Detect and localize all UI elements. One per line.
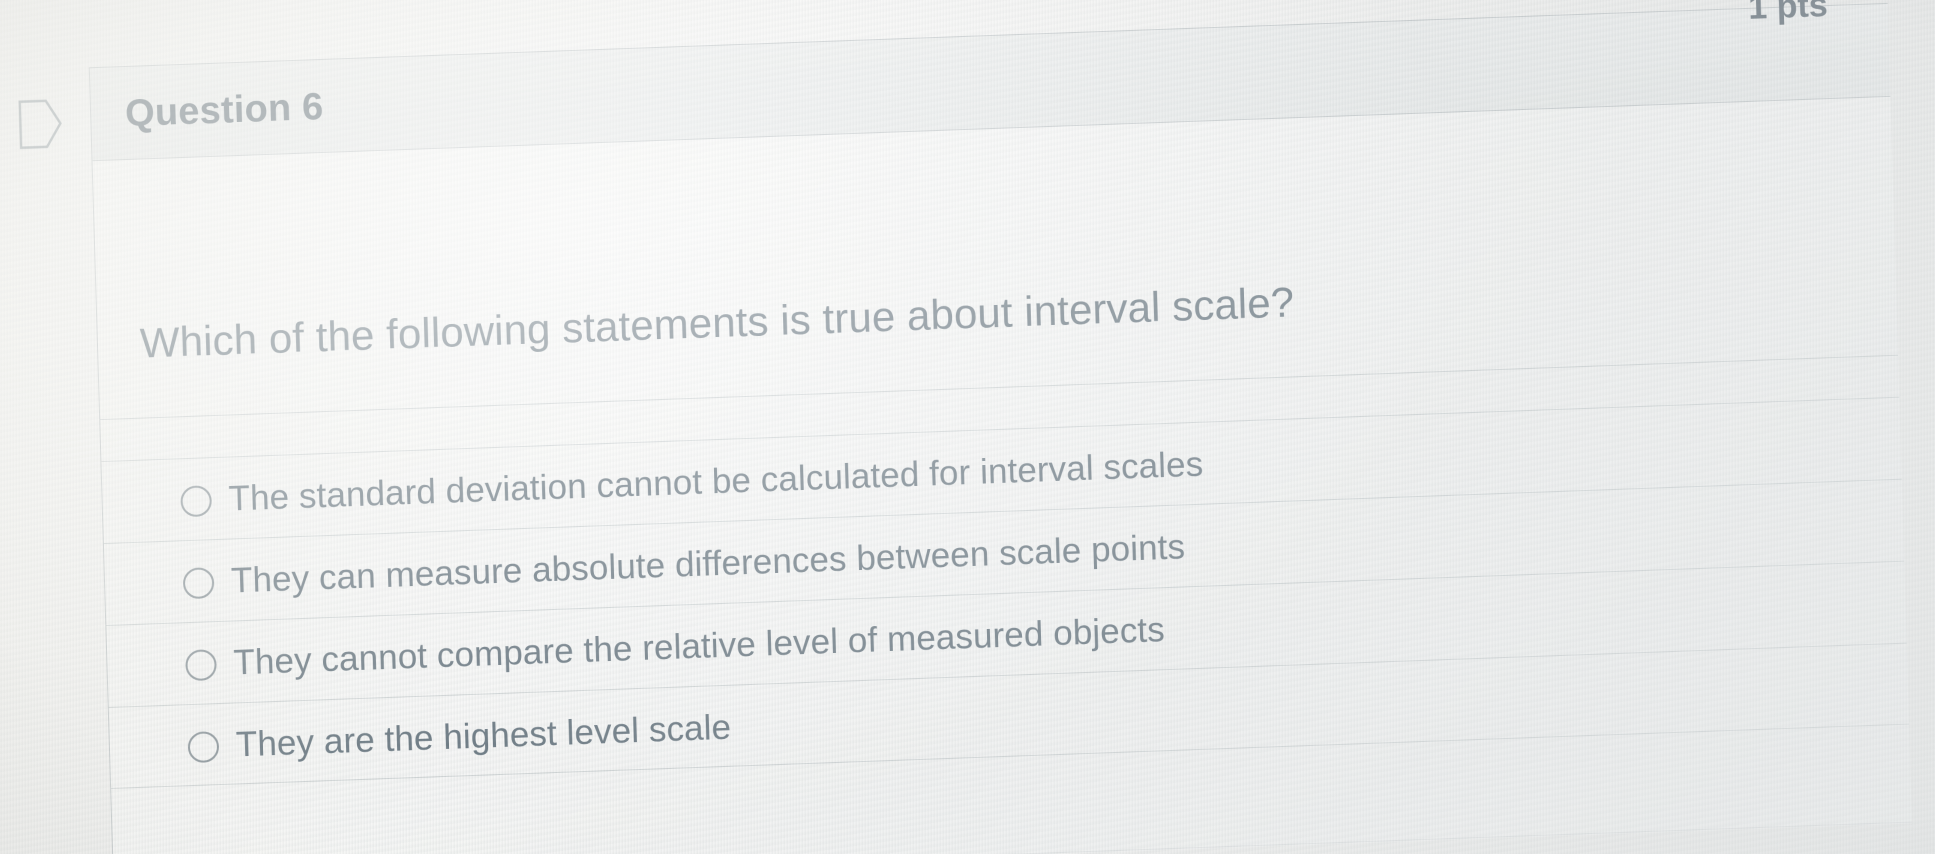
radio-button-2[interactable] [183, 567, 215, 599]
answer-option-2-label: They can measure absolute differences be… [230, 527, 1185, 601]
question-prompt: Which of the following statements is tru… [139, 278, 1295, 367]
question-points: 1 pts [1748, 0, 1828, 28]
answer-options-list: The standard deviation cannot be calcula… [101, 397, 1909, 789]
flag-outline-icon[interactable] [18, 98, 63, 150]
answer-option-3-label: They cannot compare the relative level o… [233, 610, 1165, 683]
answer-option-4-label: They are the highest level scale [235, 708, 731, 766]
radio-button-3[interactable] [185, 649, 217, 681]
radio-button-4[interactable] [188, 731, 220, 763]
quiz-question-plane: Question 6 1 pts Which of the following … [0, 0, 1935, 854]
question-title: Question 6 [125, 86, 325, 136]
photographed-screen: Question 6 1 pts Which of the following … [0, 0, 1935, 854]
question-body: Which of the following statements is tru… [93, 97, 1912, 854]
radio-button-1[interactable] [180, 485, 212, 517]
question-card: Question 6 1 pts Which of the following … [89, 3, 1912, 854]
